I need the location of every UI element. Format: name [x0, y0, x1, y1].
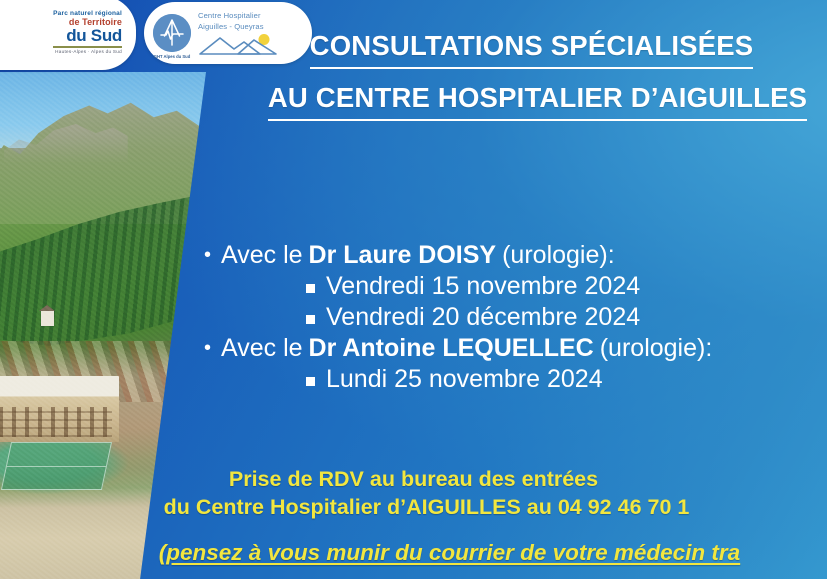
- title-line-1: CONSULTATIONS SPÉCIALISÉES: [310, 26, 754, 69]
- consultation-date-row: Vendredi 20 décembre 2024: [306, 302, 827, 333]
- consultation-date-row: Vendredi 15 novembre 2024: [306, 271, 827, 302]
- hospital-emblem-icon: GHT Alpes du Sud: [153, 14, 191, 52]
- bullet-icon: •: [204, 338, 211, 358]
- consultation-doctor-row: • Avec le Dr Laure DOISY (urologie):: [204, 240, 827, 271]
- consultation-specialty: (urologie):: [502, 240, 615, 271]
- consultation-list: • Avec le Dr Laure DOISY (urologie): Ven…: [204, 240, 827, 395]
- page-title: CONSULTATIONS SPÉCIALISÉES AU CENTRE HOS…: [236, 26, 827, 121]
- square-bullet-icon: [306, 377, 315, 386]
- booking-info: Prise de RDV au bureau des entrées du Ce…: [0, 466, 827, 521]
- consultation-date-row: Lundi 25 novembre 2024: [306, 364, 827, 395]
- booking-note: (pensez à vous munir du courrier de votr…: [36, 540, 827, 566]
- title-line-2: AU CENTRE HOSPITALIER D’AIGUILLES: [268, 78, 807, 121]
- booking-line-2: du Centre Hospitalier d’AIGUILLES au 04 …: [26, 494, 827, 522]
- hospital-name-line1: Centre Hospitalier: [198, 11, 282, 20]
- consultation-doctor-name: Dr Laure DOISY: [309, 240, 497, 271]
- poster-canvas: Parc naturel régional de Territoire du S…: [0, 0, 827, 579]
- bullet-icon: •: [204, 245, 211, 265]
- consultation-date: Vendredi 15 novembre 2024: [326, 271, 640, 302]
- square-bullet-icon: [306, 315, 315, 324]
- consultation-specialty: (urologie):: [600, 333, 713, 364]
- consultation-lead: Avec le: [221, 333, 303, 364]
- consultation-doctor-name: Dr Antoine LEQUELLEC: [309, 333, 594, 364]
- hospital-emblem-caption: GHT Alpes du Sud: [153, 54, 191, 59]
- square-bullet-icon: [306, 284, 315, 293]
- parc-naturel-regional-logo: Parc naturel régional de Territoire du S…: [0, 0, 136, 70]
- pnr-logo-line3: du Sud: [53, 27, 122, 45]
- consultation-doctor-row: • Avec le Dr Antoine LEQUELLEC (urologie…: [204, 333, 827, 364]
- booking-line-1: Prise de RDV au bureau des entrées: [0, 466, 827, 494]
- consultation-date: Vendredi 20 décembre 2024: [326, 302, 640, 333]
- pnr-logo-rule: [53, 46, 122, 48]
- pnr-logo-line4: Hautes-Alpes · Alpes du Sud: [53, 50, 122, 55]
- consultation-date: Lundi 25 novembre 2024: [326, 364, 603, 395]
- consultation-lead: Avec le: [221, 240, 303, 271]
